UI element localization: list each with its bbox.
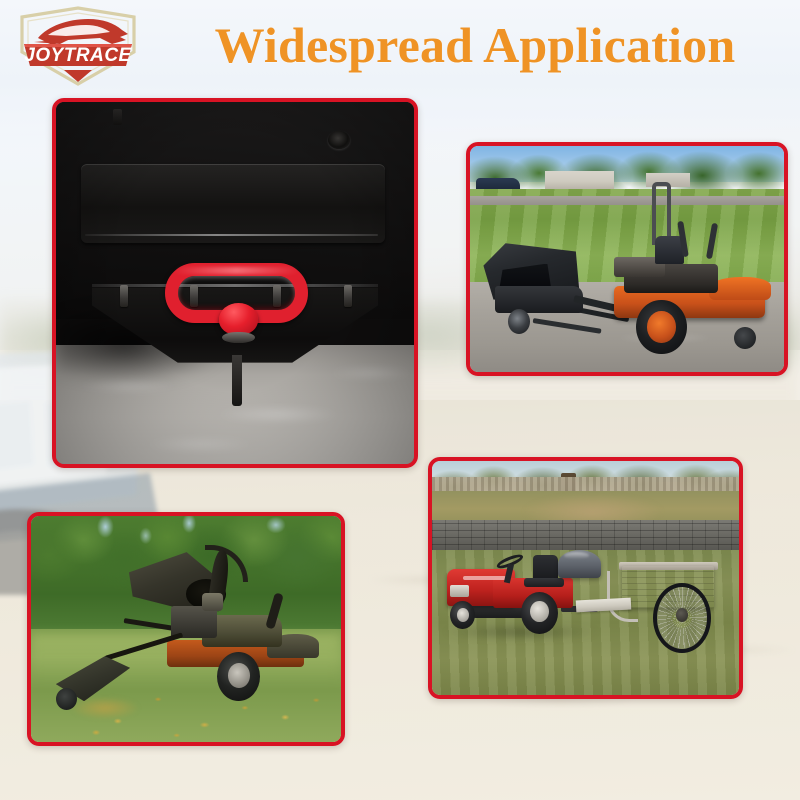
joytrace-logo: JOYTRACE bbox=[8, 4, 148, 88]
promo-banner: JOYTRACE Widespread Application bbox=[0, 0, 800, 800]
retaining-wall bbox=[432, 520, 739, 553]
photo-hitch-closeup-image bbox=[56, 102, 414, 464]
photo-zeroturn-sweeper-image bbox=[470, 146, 784, 372]
photo-zeroturn-sweeper[interactable] bbox=[466, 142, 788, 376]
page-title: Widespread Application bbox=[160, 10, 790, 80]
photo-hitch-closeup[interactable] bbox=[52, 98, 418, 468]
photo-mower-bagger-sweeper-image bbox=[31, 516, 341, 742]
photo-mower-bagger-sweeper[interactable] bbox=[27, 512, 345, 746]
header: JOYTRACE Widespread Application bbox=[0, 0, 800, 92]
photo-red-mower-cart-image bbox=[432, 461, 739, 695]
logo-wordmark: JOYTRACE bbox=[24, 45, 132, 66]
sports-car-icon bbox=[34, 19, 128, 45]
photo-red-mower-cart[interactable] bbox=[428, 457, 743, 699]
